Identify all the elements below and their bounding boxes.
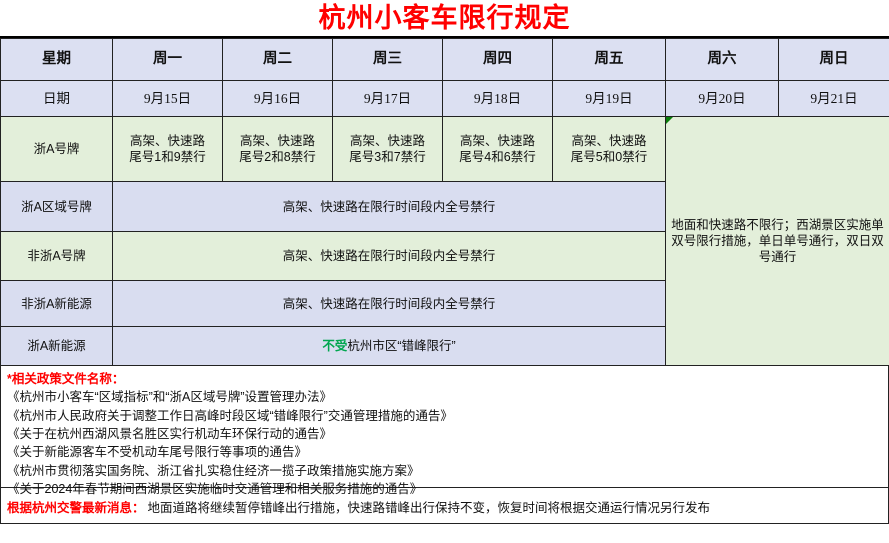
policy-document-item: 《关于新能源客车不受机动车尾号限行等事项的通告》: [7, 443, 882, 461]
header-cell-weekday-label: 星期: [1, 39, 113, 81]
nev-exempt-rest: 杭州市区“错峰限行”: [347, 339, 455, 353]
header-cell-fri: 周五: [553, 39, 666, 81]
row-label-zhe-a-nev: 浙A新能源: [1, 327, 113, 366]
limit-rules-sheet: 杭州小客车限行规定 星期 周一 周二 周三 周四 周五 周六 周日 日期 9月1…: [0, 0, 889, 543]
table-date-row: 日期 9月15日 9月16日 9月17日 9月18日 9月19日 9月20日 9…: [1, 81, 889, 117]
nev-exempt-highlight: 不受: [322, 339, 347, 353]
news-label: 根据杭州交警最新消息：: [7, 497, 145, 516]
table-row-zhe-a-plate: 浙A号牌 高架、快速路尾号1和9禁行 高架、快速路尾号2和8禁行 高架、快速路尾…: [1, 117, 889, 182]
policy-document-item: 《关于在杭州西湖风景名胜区实行机动车环保行动的通告》: [7, 425, 882, 443]
header-cell-mon: 周一: [113, 39, 223, 81]
rule-cell-zhe-a-regional-plate: 高架、快速路在限行时间段内全号禁行: [113, 182, 666, 232]
policy-documents-box: *相关政策文件名称： 《杭州市小客车“区域指标”和“浙A区域号牌”设置管理办法》…: [0, 366, 889, 488]
date-cell-tue: 9月16日: [223, 81, 333, 117]
weekend-note-cell: 地面和快速路不限行；西湖景区实施单双号限行措施，单日单号通行，双日双号通行: [666, 117, 889, 366]
policy-document-item: 《杭州市小客车“区域指标”和“浙A区域号牌”设置管理办法》: [7, 388, 882, 406]
rule-cell-tue: 高架、快速路尾号2和8禁行: [223, 117, 333, 182]
row-label-non-zhe-a-nev: 非浙A新能源: [1, 281, 113, 327]
row-label-non-zhe-a-plate: 非浙A号牌: [1, 232, 113, 281]
row-label-zhe-a-plate: 浙A号牌: [1, 117, 113, 182]
row-label-zhe-a-regional-plate: 浙A区域号牌: [1, 182, 113, 232]
rule-cell-mon: 高架、快速路尾号1和9禁行: [113, 117, 223, 182]
date-cell-sat: 9月20日: [666, 81, 779, 117]
rule-cell-zhe-a-nev: 不受杭州市区“错峰限行”: [113, 327, 666, 366]
comment-flag-icon: [666, 117, 673, 124]
date-cell-fri: 9月19日: [553, 81, 666, 117]
rule-cell-non-zhe-a-plate: 高架、快速路在限行时间段内全号禁行: [113, 232, 666, 281]
policy-document-item: 《杭州市人民政府关于调整工作日高峰时段区域“错峰限行”交通管理措施的通告》: [7, 407, 882, 425]
page-title-row: 杭州小客车限行规定: [0, 0, 889, 38]
rule-cell-wed: 高架、快速路尾号3和7禁行: [333, 117, 443, 182]
date-cell-sun: 9月21日: [779, 81, 889, 117]
rule-cell-thu: 高架、快速路尾号4和6禁行: [443, 117, 553, 182]
date-cell-wed: 9月17日: [333, 81, 443, 117]
table-header-row: 星期 周一 周二 周三 周四 周五 周六 周日: [1, 39, 889, 81]
rule-cell-fri: 高架、快速路尾号5和0禁行: [553, 117, 666, 182]
date-row-label: 日期: [1, 81, 113, 117]
rule-cell-non-zhe-a-nev: 高架、快速路在限行时间段内全号禁行: [113, 281, 666, 327]
header-cell-sun: 周日: [779, 39, 889, 81]
policy-document-item: 《杭州市贯彻落实国务院、浙江省扎实稳住经济一揽子政策措施实施方案》: [7, 462, 882, 480]
policy-heading: *相关政策文件名称：: [7, 370, 882, 388]
news-body: 地面道路将继续暂停错峰出行措施，快速路错峰出行保持不变，恢复时间将根据交通运行情…: [148, 497, 711, 516]
date-cell-thu: 9月18日: [443, 81, 553, 117]
restriction-table: 星期 周一 周二 周三 周四 周五 周六 周日 日期 9月15日 9月16日 9…: [0, 38, 889, 366]
header-cell-tue: 周二: [223, 39, 333, 81]
date-cell-mon: 9月15日: [113, 81, 223, 117]
header-cell-sat: 周六: [666, 39, 779, 81]
header-cell-thu: 周四: [443, 39, 553, 81]
page-title: 杭州小客车限行规定: [319, 5, 571, 32]
header-cell-wed: 周三: [333, 39, 443, 81]
weekend-note-text: 地面和快速路不限行；西湖景区实施单双号限行措施，单日单号通行，双日双号通行: [671, 218, 884, 264]
